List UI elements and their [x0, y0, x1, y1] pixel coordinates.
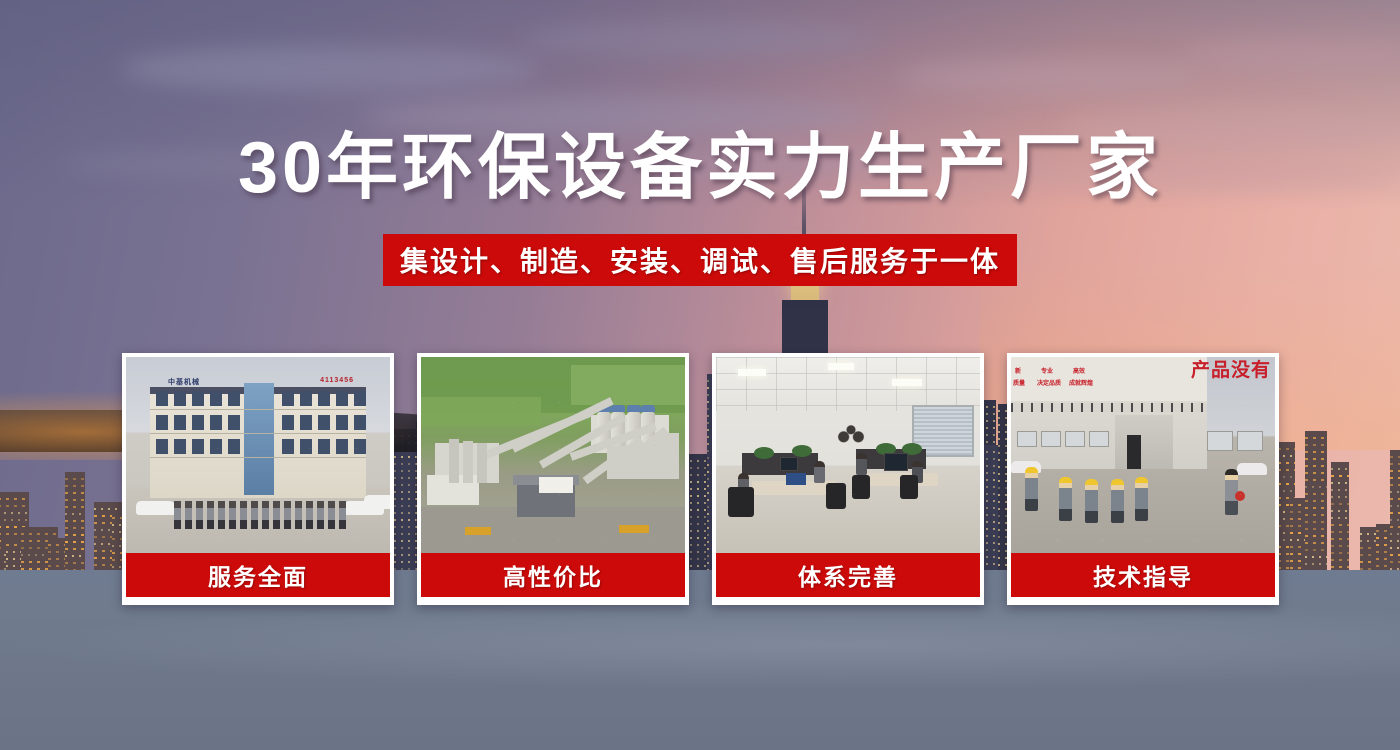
building-window-row [65, 548, 85, 550]
building-window-row [1331, 524, 1349, 526]
building-window-row [1390, 498, 1400, 500]
office-worker [814, 461, 825, 483]
building-window [192, 439, 204, 454]
building-window-row [1390, 505, 1400, 507]
building-window-row [1331, 468, 1349, 470]
building-window-row [1305, 472, 1327, 474]
factory-window [1041, 431, 1061, 447]
building-window [156, 415, 168, 430]
building-window [318, 415, 330, 430]
plant-container [539, 477, 573, 493]
staff-person [339, 501, 346, 529]
building-window-row [1331, 538, 1349, 540]
building-window-row [65, 478, 85, 480]
feature-card[interactable]: 产品没有 新 专业 高效 质量 决定品质 成就辉煌 技术指导 [1007, 353, 1279, 605]
factory-worker [1059, 477, 1072, 521]
silo-cap [627, 405, 641, 412]
building-window-row [65, 534, 85, 536]
building-window-row [1331, 496, 1349, 498]
building-window [156, 391, 168, 406]
green-field [421, 397, 541, 425]
building-window [192, 415, 204, 430]
building-window-row [1305, 507, 1327, 509]
office-interior-photo [716, 357, 980, 553]
building-window-row [1331, 475, 1349, 477]
green-field [571, 365, 685, 405]
building-window-row [1331, 489, 1349, 491]
staff-person [251, 501, 258, 529]
building-window-row [1305, 549, 1327, 551]
building-window-row [1305, 486, 1327, 488]
building-phone-text: 4113456 [320, 377, 354, 384]
factory-roof-rail [1011, 403, 1207, 412]
plant-stack [477, 443, 487, 483]
building-floor-line [150, 433, 366, 434]
building-window-row [0, 519, 29, 521]
staff-person [196, 501, 203, 529]
building-window [282, 391, 294, 406]
building-window-row [0, 512, 29, 514]
building-window-row [65, 506, 85, 508]
factory-worker [1025, 467, 1038, 511]
cloud-shape [900, 60, 1200, 94]
building-window [336, 391, 348, 406]
office-chair [900, 475, 918, 499]
building-window-row [1305, 479, 1327, 481]
building-window-row [65, 485, 85, 487]
ceiling-light [828, 363, 854, 370]
building-window [228, 415, 240, 430]
staff-person [295, 501, 302, 529]
building-window-row [1305, 444, 1327, 446]
safety-helmet [1025, 467, 1038, 473]
cloud-shape [520, 22, 880, 56]
ceiling-light [892, 379, 922, 386]
open-laptop [786, 473, 806, 485]
building-window-row [65, 499, 85, 501]
building-window-row [1331, 559, 1349, 561]
building-window-row [1305, 521, 1327, 523]
building-window-row [1305, 500, 1327, 502]
building-window-row [1331, 566, 1349, 568]
building-window-row [1390, 554, 1400, 556]
building-window-row [1331, 552, 1349, 554]
staff-person [273, 501, 280, 529]
building-window-row [1305, 458, 1327, 460]
factory-window [1207, 431, 1233, 451]
building-window [282, 415, 294, 430]
staff-person [240, 501, 247, 529]
building-window-row [1305, 563, 1327, 565]
building-window-row [1331, 503, 1349, 505]
desk-plant [792, 445, 812, 457]
silo-cap [641, 405, 655, 412]
building-window-row [1305, 465, 1327, 467]
building-window-row [1390, 470, 1400, 472]
building-window [354, 439, 366, 454]
building-window-row [1390, 561, 1400, 563]
staff-person [207, 501, 214, 529]
building-window [156, 439, 168, 454]
building-window [354, 415, 366, 430]
factory-slogan-small: 专业 [1041, 369, 1053, 377]
building-window [174, 439, 186, 454]
building-window-row [1390, 533, 1400, 535]
building-window-row [1331, 517, 1349, 519]
card-caption-bar: 体系完善 [716, 553, 980, 597]
building-window-row [65, 555, 85, 557]
building-window [228, 439, 240, 454]
company-headquarters-photo: 中基机械 4113456 [126, 357, 390, 553]
safety-helmet [1111, 479, 1124, 485]
yellow-machine [619, 525, 649, 533]
building-window [300, 415, 312, 430]
parked-car [364, 495, 390, 509]
building-window-row [1390, 491, 1400, 493]
safety-helmet [1085, 479, 1098, 485]
building-window [210, 439, 222, 454]
building-window [354, 391, 366, 406]
feature-card[interactable]: 高性价比 [417, 353, 689, 605]
staff-person [218, 501, 225, 529]
building-window-row [1390, 540, 1400, 542]
building-window [318, 391, 330, 406]
building-window [174, 391, 186, 406]
building-window-row [65, 562, 85, 564]
card-caption-bar: 技术指导 [1011, 553, 1275, 597]
staff-person [185, 501, 192, 529]
building-window-row [1305, 535, 1327, 537]
plant-stack [449, 439, 459, 483]
page-title: 30年环保设备实力生产厂家 [0, 132, 1400, 204]
production-plant-aerial-photo [421, 357, 685, 553]
card-caption-text: 技术指导 [1093, 558, 1193, 592]
computer-monitor [884, 453, 908, 471]
building-window [336, 439, 348, 454]
factory-worker [1111, 479, 1124, 523]
building-window-row [65, 541, 85, 543]
plant-stack [463, 441, 473, 483]
promo-banner: 30年环保设备实力生产厂家 集设计、制造、安装、调试、售后服务于一体 中基机械 … [0, 0, 1400, 750]
factory-slogan-small: 决定品质 [1037, 381, 1061, 389]
factory-sign-band [1011, 357, 1207, 401]
red-helmet-held [1235, 491, 1245, 501]
wall-decal [828, 417, 874, 449]
building-window-row [1390, 519, 1400, 521]
staff-person [262, 501, 269, 529]
staff-person [328, 501, 335, 529]
building-window [282, 439, 294, 454]
water-reflection [0, 600, 1400, 690]
building-window-row [65, 492, 85, 494]
feature-card[interactable]: 中基机械 4113456 服务全面 [122, 353, 394, 605]
building-window-row [0, 505, 29, 507]
building-window-row [1331, 531, 1349, 533]
safety-helmet [1059, 477, 1072, 483]
card-caption-bar: 服务全面 [126, 553, 390, 597]
building-window-row [1305, 514, 1327, 516]
factory-worker [1085, 479, 1098, 523]
building-window [210, 391, 222, 406]
factory-window [1237, 431, 1263, 451]
building-window-row [1305, 493, 1327, 495]
card-caption-text: 体系完善 [798, 558, 898, 592]
building-window-row [1390, 526, 1400, 528]
building-window [210, 415, 222, 430]
building-window-row [65, 520, 85, 522]
factory-slogan-small: 成就辉煌 [1069, 381, 1093, 389]
building-window-row [1331, 545, 1349, 547]
building-window-row [65, 527, 85, 529]
building-window-row [21, 533, 58, 535]
factory-shutter [1115, 415, 1173, 469]
yellow-machine [465, 527, 491, 535]
subtitle-banner: 集设计、制造、安装、调试、售后服务于一体 [383, 234, 1017, 286]
building-window-row [1305, 451, 1327, 453]
building-window-row [1305, 437, 1327, 439]
building-glass-atrium [244, 383, 274, 495]
building-window [174, 415, 186, 430]
building-window-row [1305, 528, 1327, 530]
factory-slogan-small: 质量 [1013, 381, 1025, 389]
building-window [228, 391, 240, 406]
office-chair [826, 483, 846, 509]
safety-helmet [1135, 477, 1148, 483]
building-window-row [1390, 477, 1400, 479]
factory-slogan-text: 产品没有 [1191, 361, 1271, 380]
building-window [192, 391, 204, 406]
feature-card-list: 中基机械 4113456 服务全面 高性价比 [122, 353, 1279, 605]
building-window-row [1390, 463, 1400, 465]
staff-person [174, 501, 181, 529]
building-floor-line [150, 409, 366, 410]
building-window [300, 391, 312, 406]
building-window-row [1390, 547, 1400, 549]
cloud-shape [120, 46, 540, 92]
building-window [336, 415, 348, 430]
staff-person [317, 501, 324, 529]
building-window-row [1305, 542, 1327, 544]
building-window-row [1305, 556, 1327, 558]
factory-slogan-small: 新 [1015, 369, 1021, 377]
ceiling-light [738, 369, 766, 376]
building-window-row [65, 513, 85, 515]
card-caption-text: 高性价比 [503, 558, 603, 592]
parked-car [1237, 463, 1267, 475]
building-window-row [1390, 484, 1400, 486]
factory-doorway [1127, 435, 1141, 469]
subtitle-text: 集设计、制造、安装、调试、售后服务于一体 [400, 240, 1000, 280]
building-window-row [1331, 510, 1349, 512]
factory-worker [1135, 477, 1148, 521]
parked-car [136, 501, 176, 515]
factory-window [1065, 431, 1085, 447]
office-floor [716, 467, 980, 553]
building-window-row [1331, 482, 1349, 484]
card-caption-text: 服务全面 [208, 558, 308, 592]
office-worker [856, 453, 867, 475]
building-floor-line [150, 457, 366, 458]
building-window-row [1390, 456, 1400, 458]
building-sign-text: 中基机械 [168, 377, 200, 387]
building-window [300, 439, 312, 454]
staff-person [229, 501, 236, 529]
feature-card[interactable]: 体系完善 [712, 353, 984, 605]
staff-person [284, 501, 291, 529]
office-chair [728, 487, 754, 517]
factory-slogan-small: 高效 [1073, 369, 1085, 377]
factory-window [1089, 431, 1109, 447]
staff-person [306, 501, 313, 529]
silo-cap [611, 405, 625, 412]
building-window-row [0, 498, 29, 500]
factory-window [1017, 431, 1037, 447]
card-caption-bar: 高性价比 [421, 553, 685, 597]
building-window-row [1390, 512, 1400, 514]
office-chair [852, 475, 870, 499]
building-window [318, 439, 330, 454]
computer-monitor [780, 457, 798, 471]
factory-training-photo: 产品没有 新 专业 高效 质量 决定品质 成就辉煌 [1011, 357, 1275, 553]
desk-plant [754, 447, 774, 459]
